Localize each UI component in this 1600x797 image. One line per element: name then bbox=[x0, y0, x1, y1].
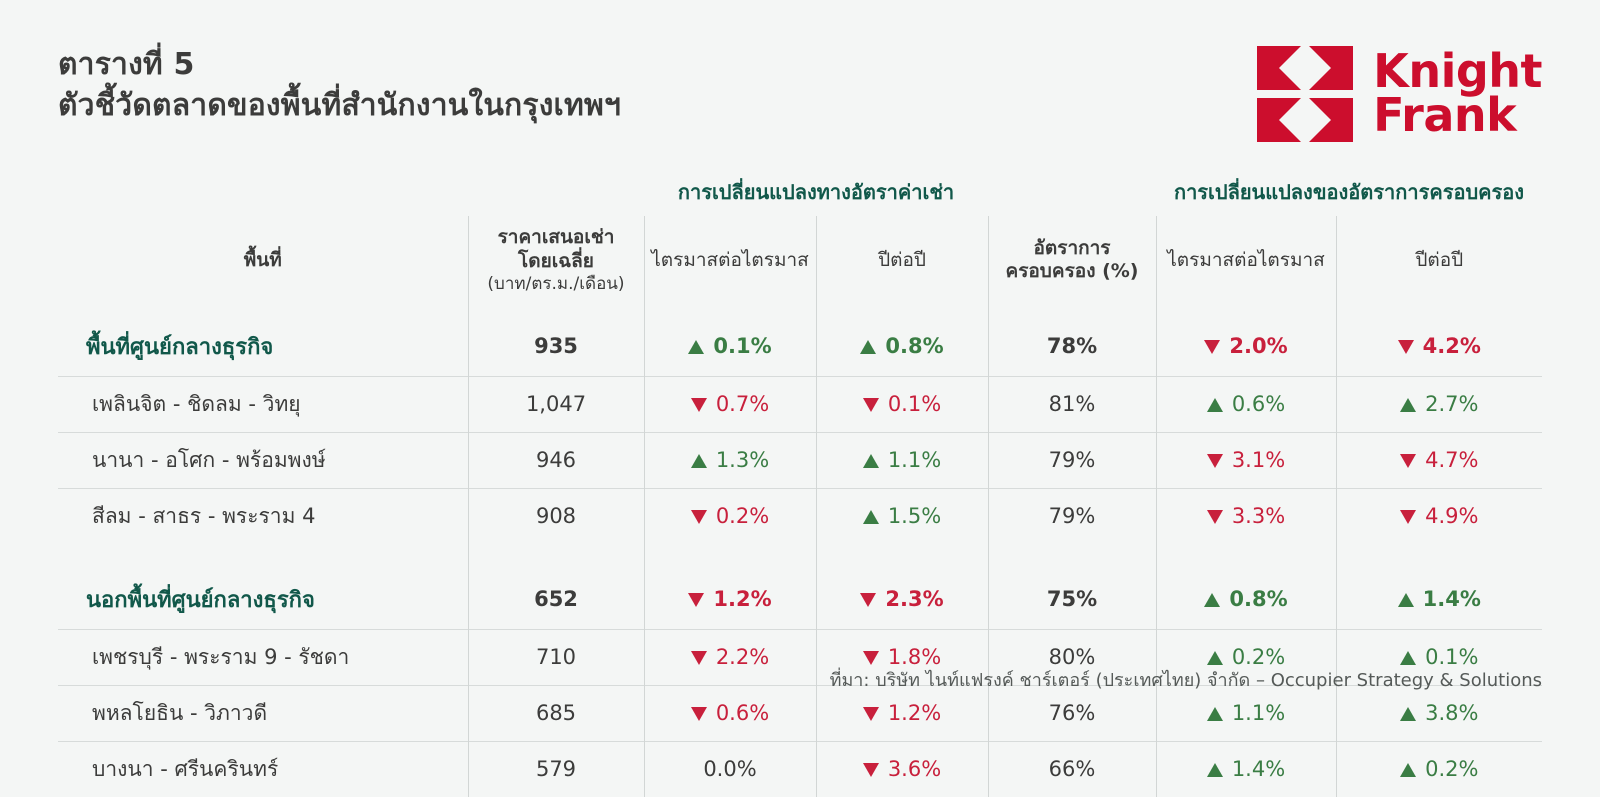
cell-occ-yoy: 4.9% bbox=[1336, 488, 1542, 544]
cell-area: นานา - อโศก - พร้อมพงษ์ bbox=[58, 432, 468, 488]
arrow-down-icon bbox=[691, 651, 707, 665]
cell-rent-yoy-text: 2.3% bbox=[885, 587, 943, 611]
cell-occ-yoy: 1.4% bbox=[1336, 570, 1542, 630]
cell-occ-qoq: 0.6% bbox=[1156, 376, 1336, 432]
arrow-down-icon bbox=[1400, 454, 1416, 468]
cell-rent-qoq-text: 0.2% bbox=[716, 504, 769, 528]
cell-rent-yoy-text: 1.5% bbox=[888, 504, 941, 528]
column-header-asking-rent-unit: (บาท/ตร.ม./เดือน) bbox=[475, 274, 638, 295]
cell-asking-rent: 652 bbox=[468, 570, 644, 630]
cell-occupancy: 79% bbox=[988, 432, 1156, 488]
cell-occ-qoq-value: 0.8% bbox=[1204, 587, 1287, 611]
column-header-area: พื้นที่ bbox=[58, 216, 468, 317]
arrow-down-icon bbox=[1204, 340, 1220, 354]
spacer-cell bbox=[816, 544, 988, 570]
cell-rent-yoy-text: 3.6% bbox=[888, 757, 941, 781]
group-header-occupancy-change: การเปลี่ยนแปลงของอัตราการครอบครอง bbox=[1156, 176, 1542, 216]
cell-occ-yoy-value: 4.7% bbox=[1400, 448, 1478, 472]
cell-occ-qoq-value: 0.6% bbox=[1207, 392, 1285, 416]
table-row: สีลม - สาธร - พระราม 49080.2%1.5%79%3.3%… bbox=[58, 488, 1542, 544]
cell-area: เพลินจิต - ชิดลม - วิทยุ bbox=[58, 376, 468, 432]
cell-occ-qoq-text: 1.4% bbox=[1232, 757, 1285, 781]
column-header-occ-qoq: ไตรมาสต่อไตรมาส bbox=[1156, 216, 1336, 317]
cell-occupancy: 81% bbox=[988, 376, 1156, 432]
knight-frank-bowtie-icon bbox=[1255, 44, 1355, 144]
arrow-down-icon bbox=[688, 593, 704, 607]
arrow-down-icon bbox=[863, 651, 879, 665]
arrow-up-icon bbox=[1204, 593, 1220, 607]
cell-rent-qoq-value: 0.0% bbox=[703, 757, 756, 781]
cell-rent-qoq-text: 1.2% bbox=[713, 587, 771, 611]
table-row: เพลินจิต - ชิดลม - วิทยุ1,0470.7%0.1%81%… bbox=[58, 376, 1542, 432]
table-row: บางนา - ศรีนครินทร์5790.0%3.6%66%1.4%0.2… bbox=[58, 741, 1542, 797]
cell-occ-yoy-text: 2.7% bbox=[1425, 392, 1478, 416]
cell-rent-qoq-value: 1.2% bbox=[688, 587, 771, 611]
cell-occ-yoy-text: 1.4% bbox=[1423, 587, 1481, 611]
cell-rent-yoy-value: 0.8% bbox=[860, 334, 943, 358]
spacer-cell bbox=[988, 544, 1156, 570]
cell-rent-yoy-value: 1.1% bbox=[863, 448, 941, 472]
column-header-occ-yoy: ปีต่อปี bbox=[1336, 216, 1542, 317]
cell-rent-qoq: 0.6% bbox=[644, 685, 816, 741]
source-note: ที่มา: บริษัท ไนท์แฟรงค์ ชาร์เตอร์ (ประเ… bbox=[830, 665, 1542, 694]
arrow-up-icon bbox=[1400, 707, 1416, 721]
arrow-down-icon bbox=[1400, 510, 1416, 524]
cell-occ-qoq-value: 1.4% bbox=[1207, 757, 1285, 781]
column-header-rent-yoy: ปีต่อปี bbox=[816, 216, 988, 317]
arrow-down-icon bbox=[1207, 454, 1223, 468]
cell-rent-yoy-value: 0.1% bbox=[863, 392, 941, 416]
cell-rent-qoq: 0.7% bbox=[644, 376, 816, 432]
spacer-cell bbox=[1156, 544, 1336, 570]
cell-rent-qoq: 1.3% bbox=[644, 432, 816, 488]
cell-occ-yoy-text: 4.7% bbox=[1425, 448, 1478, 472]
arrow-up-icon bbox=[691, 454, 707, 468]
group-header-row: การเปลี่ยนแปลงทางอัตราค่าเช่า การเปลี่ยน… bbox=[58, 176, 1542, 216]
arrow-up-icon bbox=[1207, 398, 1223, 412]
cell-rent-yoy-text: 0.1% bbox=[888, 392, 941, 416]
cell-rent-qoq-text: 0.7% bbox=[716, 392, 769, 416]
cell-occ-yoy-value: 2.7% bbox=[1400, 392, 1478, 416]
cell-occ-qoq-text: 3.1% bbox=[1232, 448, 1285, 472]
cell-area: นอกพื้นที่ศูนย์กลางธุรกิจ bbox=[58, 570, 468, 630]
cell-occupancy: 66% bbox=[988, 741, 1156, 797]
arrow-down-icon bbox=[1207, 510, 1223, 524]
cell-rent-qoq-value: 0.6% bbox=[691, 701, 769, 725]
cell-rent-yoy-value: 1.2% bbox=[863, 701, 941, 725]
arrow-up-icon bbox=[1207, 707, 1223, 721]
cell-rent-qoq-value: 0.2% bbox=[691, 504, 769, 528]
arrow-down-icon bbox=[691, 398, 707, 412]
section-spacer bbox=[58, 544, 1542, 570]
arrow-up-icon bbox=[863, 510, 879, 524]
cell-occupancy: 79% bbox=[988, 488, 1156, 544]
group-header-rental-change: การเปลี่ยนแปลงทางอัตราค่าเช่า bbox=[644, 176, 988, 216]
market-indicators-table: การเปลี่ยนแปลงทางอัตราค่าเช่า การเปลี่ยน… bbox=[58, 176, 1542, 797]
column-header-occupancy: อัตราการ ครอบครอง (%) bbox=[988, 216, 1156, 317]
cell-rent-qoq: 1.2% bbox=[644, 570, 816, 630]
page-header: ตารางที่ 5 ตัวชี้วัดตลาดของพื้นที่สำนักง… bbox=[58, 44, 1542, 154]
cell-occ-yoy-text: 4.9% bbox=[1425, 504, 1478, 528]
cell-rent-yoy-text: 1.2% bbox=[888, 701, 941, 725]
cell-asking-rent: 710 bbox=[468, 629, 644, 685]
arrow-down-icon bbox=[691, 707, 707, 721]
cell-rent-yoy-text: 1.1% bbox=[888, 448, 941, 472]
cell-rent-yoy-value: 3.6% bbox=[863, 757, 941, 781]
group-header-spacer bbox=[58, 176, 468, 216]
cell-area: เพชรบุรี - พระราม 9 - รัชดา bbox=[58, 629, 468, 685]
arrow-down-icon bbox=[860, 593, 876, 607]
cell-occ-yoy-text: 3.8% bbox=[1425, 701, 1478, 725]
cell-rent-yoy: 1.5% bbox=[816, 488, 988, 544]
table-body: พื้นที่ศูนย์กลางธุรกิจ9350.1%0.8%78%2.0%… bbox=[58, 317, 1542, 797]
cell-area: สีลม - สาธร - พระราม 4 bbox=[58, 488, 468, 544]
cell-asking-rent: 935 bbox=[468, 317, 644, 377]
cell-occ-qoq-text: 3.3% bbox=[1232, 504, 1285, 528]
cell-rent-yoy-text: 0.8% bbox=[885, 334, 943, 358]
cell-area: บางนา - ศรีนครินทร์ bbox=[58, 741, 468, 797]
cell-rent-yoy: 0.8% bbox=[816, 317, 988, 377]
cell-asking-rent: 946 bbox=[468, 432, 644, 488]
cell-rent-qoq: 0.1% bbox=[644, 317, 816, 377]
arrow-up-icon bbox=[688, 340, 704, 354]
cell-occ-qoq-value: 2.0% bbox=[1204, 334, 1287, 358]
cell-occ-yoy: 2.7% bbox=[1336, 376, 1542, 432]
cell-area: พหลโยธิน - วิภาวดี bbox=[58, 685, 468, 741]
cell-occ-qoq-text: 2.0% bbox=[1229, 334, 1287, 358]
cell-rent-yoy: 0.1% bbox=[816, 376, 988, 432]
arrow-up-icon bbox=[1207, 651, 1223, 665]
cell-rent-yoy-value: 2.3% bbox=[860, 587, 943, 611]
arrow-down-icon bbox=[863, 398, 879, 412]
cell-occ-qoq-value: 1.1% bbox=[1207, 701, 1285, 725]
cell-occ-qoq: 0.8% bbox=[1156, 570, 1336, 630]
cell-occ-qoq-value: 3.1% bbox=[1207, 448, 1285, 472]
cell-rent-yoy: 2.3% bbox=[816, 570, 988, 630]
cell-occ-yoy-text: 0.2% bbox=[1425, 757, 1478, 781]
cell-asking-rent: 908 bbox=[468, 488, 644, 544]
arrow-up-icon bbox=[863, 454, 879, 468]
cell-rent-qoq: 0.2% bbox=[644, 488, 816, 544]
cell-occ-qoq: 3.3% bbox=[1156, 488, 1336, 544]
cell-occ-qoq: 2.0% bbox=[1156, 317, 1336, 377]
cell-rent-qoq: 2.2% bbox=[644, 629, 816, 685]
cell-occupancy: 75% bbox=[988, 570, 1156, 630]
cell-rent-yoy-value: 1.5% bbox=[863, 504, 941, 528]
table-number: ตารางที่ 5 bbox=[58, 44, 621, 85]
group-header-spacer-occ bbox=[988, 176, 1156, 216]
arrow-down-icon bbox=[1398, 340, 1414, 354]
column-header-row: พื้นที่ ราคาเสนอเช่า โดยเฉลี่ย (บาท/ตร.ม… bbox=[58, 216, 1542, 317]
cell-occ-yoy: 4.7% bbox=[1336, 432, 1542, 488]
cell-occ-yoy-value: 1.4% bbox=[1398, 587, 1481, 611]
cell-occ-qoq-text: 1.1% bbox=[1232, 701, 1285, 725]
cell-rent-qoq-text: 1.3% bbox=[716, 448, 769, 472]
cell-asking-rent: 1,047 bbox=[468, 376, 644, 432]
arrow-up-icon bbox=[1400, 651, 1416, 665]
cell-occ-yoy-value: 3.8% bbox=[1400, 701, 1478, 725]
spacer-cell bbox=[644, 544, 816, 570]
cell-occ-qoq: 1.4% bbox=[1156, 741, 1336, 797]
column-header-asking-rent: ราคาเสนอเช่า โดยเฉลี่ย (บาท/ตร.ม./เดือน) bbox=[468, 216, 644, 317]
spacer-cell bbox=[468, 544, 644, 570]
cell-rent-yoy: 3.6% bbox=[816, 741, 988, 797]
cell-occ-yoy-value: 4.2% bbox=[1398, 334, 1481, 358]
cell-rent-qoq-value: 0.7% bbox=[691, 392, 769, 416]
cell-occ-qoq-text: 0.6% bbox=[1232, 392, 1285, 416]
title-block: ตารางที่ 5 ตัวชี้วัดตลาดของพื้นที่สำนักง… bbox=[58, 44, 621, 127]
cell-rent-qoq-text: 0.6% bbox=[716, 701, 769, 725]
arrow-down-icon bbox=[863, 763, 879, 777]
page-title: ตัวชี้วัดตลาดของพื้นที่สำนักงานในกรุงเทพ… bbox=[58, 85, 621, 126]
cell-asking-rent: 685 bbox=[468, 685, 644, 741]
column-header-asking-rent-line2: โดยเฉลี่ย bbox=[518, 250, 594, 272]
cell-occ-yoy: 0.2% bbox=[1336, 741, 1542, 797]
logo-word-frank: Frank bbox=[1373, 94, 1542, 138]
arrow-up-icon bbox=[1400, 763, 1416, 777]
cell-rent-qoq: 0.0% bbox=[644, 741, 816, 797]
cell-occ-yoy-value: 0.2% bbox=[1400, 757, 1478, 781]
cell-rent-qoq-value: 1.3% bbox=[691, 448, 769, 472]
logo-wordmark: Knight Frank bbox=[1373, 50, 1542, 137]
arrow-up-icon bbox=[860, 340, 876, 354]
table-row: นานา - อโศก - พร้อมพงษ์9461.3%1.1%79%3.1… bbox=[58, 432, 1542, 488]
cell-rent-qoq-text: 0.1% bbox=[713, 334, 771, 358]
cell-occ-yoy: 4.2% bbox=[1336, 317, 1542, 377]
spacer-cell bbox=[1336, 544, 1542, 570]
cell-occ-qoq-text: 0.8% bbox=[1229, 587, 1287, 611]
cell-area: พื้นที่ศูนย์กลางธุรกิจ bbox=[58, 317, 468, 377]
cell-occ-qoq: 3.1% bbox=[1156, 432, 1336, 488]
cell-rent-yoy: 1.1% bbox=[816, 432, 988, 488]
cell-occupancy: 78% bbox=[988, 317, 1156, 377]
arrow-down-icon bbox=[691, 510, 707, 524]
table-section-row: นอกพื้นที่ศูนย์กลางธุรกิจ6521.2%2.3%75%0… bbox=[58, 570, 1542, 630]
group-header-spacer-rent bbox=[468, 176, 644, 216]
cell-rent-qoq-text: 0.0% bbox=[703, 757, 756, 781]
cell-occ-qoq-value: 3.3% bbox=[1207, 504, 1285, 528]
arrow-up-icon bbox=[1398, 593, 1414, 607]
arrow-up-icon bbox=[1400, 398, 1416, 412]
table-section-row: พื้นที่ศูนย์กลางธุรกิจ9350.1%0.8%78%2.0%… bbox=[58, 317, 1542, 377]
cell-rent-qoq-text: 2.2% bbox=[716, 645, 769, 669]
column-header-asking-rent-line1: ราคาเสนอเช่า bbox=[498, 226, 615, 248]
column-header-rent-qoq: ไตรมาสต่อไตรมาส bbox=[644, 216, 816, 317]
table-page: ตารางที่ 5 ตัวชี้วัดตลาดของพื้นที่สำนักง… bbox=[0, 0, 1600, 738]
cell-rent-qoq-value: 0.1% bbox=[688, 334, 771, 358]
cell-rent-qoq-value: 2.2% bbox=[691, 645, 769, 669]
arrow-up-icon bbox=[1207, 763, 1223, 777]
arrow-down-icon bbox=[863, 707, 879, 721]
cell-occ-yoy-value: 4.9% bbox=[1400, 504, 1478, 528]
spacer-cell bbox=[58, 544, 468, 570]
knight-frank-logo: Knight Frank bbox=[1255, 44, 1542, 144]
cell-occ-yoy-text: 4.2% bbox=[1423, 334, 1481, 358]
cell-asking-rent: 579 bbox=[468, 741, 644, 797]
column-header-occupancy-line1: อัตราการ bbox=[1033, 237, 1110, 259]
column-header-occupancy-line2: ครอบครอง (%) bbox=[1005, 260, 1138, 282]
